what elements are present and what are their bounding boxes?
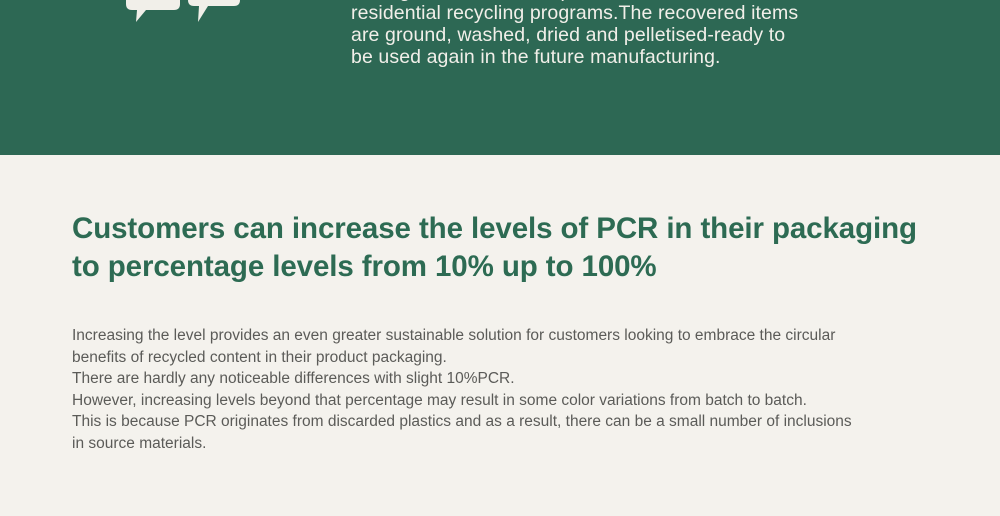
section-body-line: However, increasing levels beyond that p… bbox=[72, 390, 962, 412]
speech-bubbles-icon bbox=[124, 0, 244, 26]
section-body-line: in source materials. bbox=[72, 433, 962, 455]
section-body-line: benefits of recycled content in their pr… bbox=[72, 347, 962, 369]
hero-paragraph-line: residential recycling programs.The recov… bbox=[351, 2, 891, 24]
hero-green-band: sorting of these discard plastics in com… bbox=[0, 0, 1000, 155]
section-heading-line: to percentage levels from 10% up to 100% bbox=[72, 248, 952, 286]
page-root: sorting of these discard plastics in com… bbox=[0, 0, 1000, 516]
hero-paragraph: sorting of these discard plastics in com… bbox=[351, 0, 891, 68]
section-heading: Customers can increase the levels of PCR… bbox=[72, 210, 952, 286]
section-body-line: This is because PCR originates from disc… bbox=[72, 411, 962, 433]
hero-paragraph-line: be used again in the future manufacturin… bbox=[351, 46, 891, 68]
section-body: Increasing the level provides an even gr… bbox=[72, 325, 962, 454]
section-body-line: There are hardly any noticeable differen… bbox=[72, 368, 962, 390]
content-section: Customers can increase the levels of PCR… bbox=[0, 155, 1000, 516]
section-body-line: Increasing the level provides an even gr… bbox=[72, 325, 962, 347]
hero-paragraph-line: are ground, washed, dried and pelletised… bbox=[351, 24, 891, 46]
section-heading-line: Customers can increase the levels of PCR… bbox=[72, 210, 952, 248]
